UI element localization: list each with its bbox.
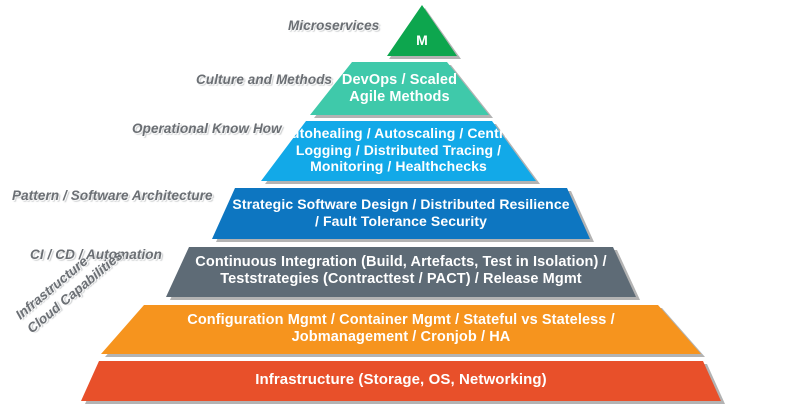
side-label-operations: Operational Know How: [132, 121, 282, 136]
side-label-culture: Culture and Methods: [196, 72, 332, 87]
pyramid-diagram: Infrastructure (Storage, OS, Networking)…: [0, 0, 797, 410]
side-label-architecture: Pattern / Software Architecture: [12, 188, 213, 203]
side-label-microservices: Microservices: [288, 18, 379, 33]
apex-shape: [387, 5, 457, 56]
